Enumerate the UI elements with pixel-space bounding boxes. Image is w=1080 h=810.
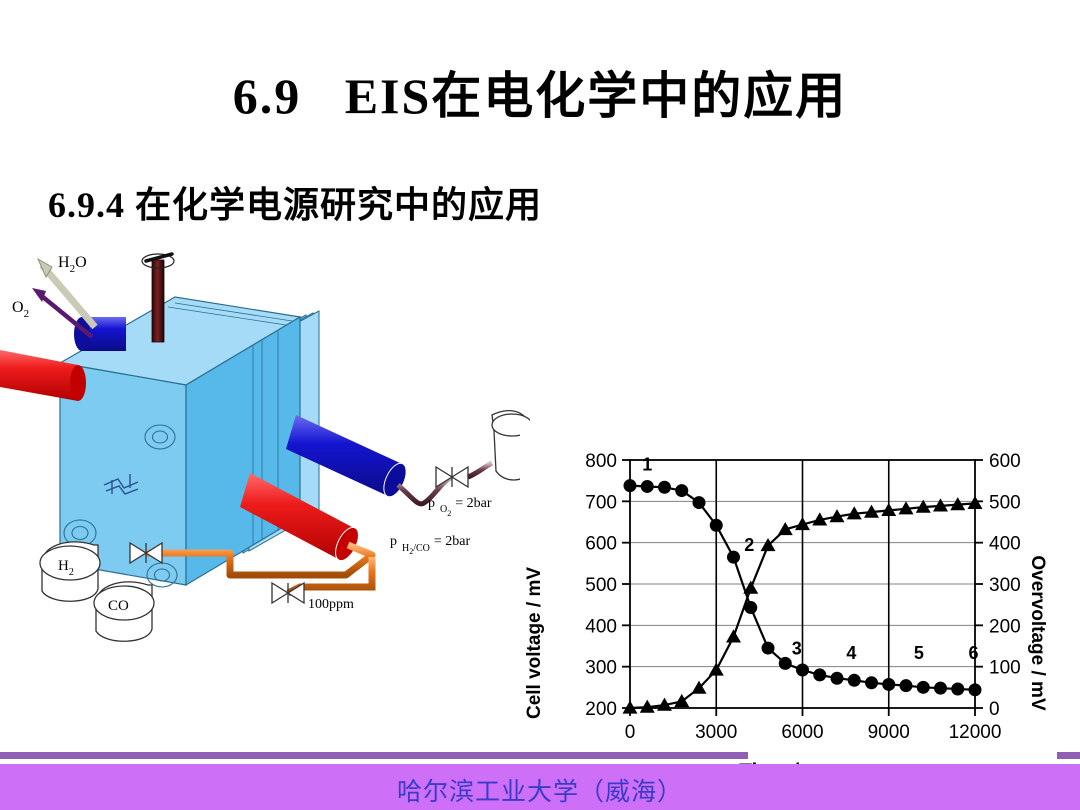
chart-annotation: 2 [744, 535, 754, 555]
y-axis-label: Cell voltage / mV [524, 567, 545, 719]
label-p-h2co: pH2/CO= 2bar [390, 534, 471, 556]
y2-axis-label: Overvoltage / mV [1027, 555, 1048, 711]
label-tank-co: CO [108, 598, 129, 614]
series-marker [710, 519, 723, 532]
y2-tick-label: 0 [989, 699, 1000, 720]
y-tick-label: 500 [585, 575, 617, 596]
series-marker [727, 551, 740, 564]
y2-tick-label: 500 [989, 492, 1021, 513]
y2-tick-label: 400 [989, 534, 1021, 555]
footer-rule-right [1057, 752, 1080, 759]
footer-rule-left [0, 752, 748, 759]
series-marker [882, 678, 895, 691]
y2-tick-label: 600 [989, 451, 1021, 472]
series-marker [779, 657, 792, 670]
x-tick-label: 3000 [695, 722, 737, 743]
y-tick-label: 400 [585, 616, 617, 637]
series-marker [951, 682, 964, 695]
y2-tick-label: 100 [989, 658, 1021, 679]
valve-co [272, 583, 304, 603]
series-marker [675, 484, 688, 497]
x-tick-label: 0 [625, 722, 636, 743]
chart-annotation: 5 [914, 643, 924, 663]
series-marker [917, 681, 930, 694]
pipe-blue-left [74, 317, 126, 351]
footer-institution: 哈尔滨工业大学（威海） [0, 772, 1080, 808]
label-h2o: H2O [58, 254, 87, 275]
series-marker [762, 642, 775, 655]
chart-annotation: 6 [969, 643, 979, 663]
chart-annotation: 4 [846, 643, 856, 663]
series-marker [658, 481, 671, 494]
series-marker [831, 672, 844, 685]
series-marker [865, 676, 878, 689]
x-tick-label: 12000 [949, 722, 1002, 743]
series-marker [641, 480, 654, 493]
y2-tick-label: 300 [989, 575, 1021, 596]
tube-o2-b [468, 463, 492, 477]
series-marker [693, 496, 706, 509]
series-marker [969, 683, 982, 696]
page-title: 6.9 EIS在电化学中的应用 [0, 56, 1080, 128]
series-marker [900, 679, 913, 692]
series-marker [848, 674, 861, 687]
series-marker [813, 668, 826, 681]
y-tick-label: 200 [585, 699, 617, 720]
slide-canvas: 6.9 EIS在电化学中的应用 6.9.4 在化学电源研究中的应用 [0, 0, 1080, 810]
y-tick-label: 800 [585, 451, 617, 472]
y-tick-label: 300 [585, 658, 617, 679]
y-tick-label: 600 [585, 534, 617, 555]
valve-o2 [436, 467, 468, 487]
chart-annotation: 3 [792, 638, 802, 658]
label-o2: O2 [12, 299, 29, 320]
y-tick-label: 700 [585, 492, 617, 513]
fuel-cell-diagram: H2O O2 pO2= 2bar pH2/CO= 2bar 100ppm [0, 245, 530, 645]
series-marker [796, 663, 809, 676]
section-subtitle: 6.9.4 在化学电源研究中的应用 [48, 176, 542, 228]
x-tick-label: 9000 [868, 722, 910, 743]
valve-h2 [130, 543, 162, 563]
label-100ppm: 100ppm [308, 597, 354, 612]
series-marker [934, 682, 947, 695]
series-marker [624, 479, 637, 492]
label-p-o2: pO2= 2bar [428, 496, 492, 518]
performance-chart: 2003004005006007008000100200300400500600… [520, 428, 1048, 790]
x-tick-label: 6000 [781, 722, 823, 743]
y2-tick-label: 200 [989, 616, 1021, 637]
chart-annotation: 1 [642, 454, 652, 474]
